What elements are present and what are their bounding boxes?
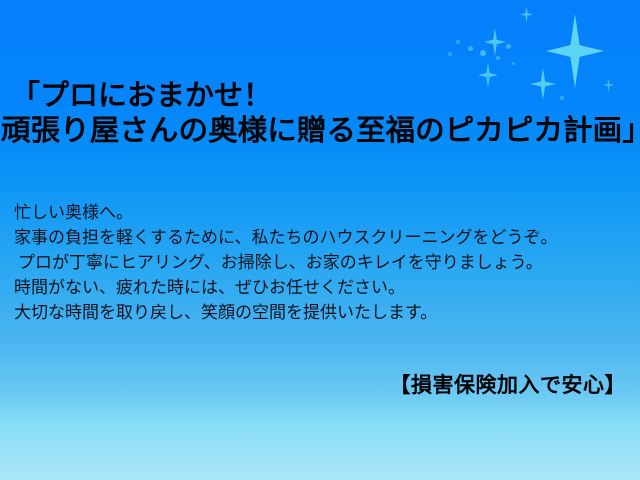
headline-block: 「プロにおまかせ！ 頑張り屋さんの奥様に贈る至福のピカピカ計画」 xyxy=(0,82,640,146)
body-line: プロが丁寧にヒアリング、お掃除し、お家のキレイを守りましょう。 xyxy=(14,250,634,275)
body-copy-block: 忙しい奥様へ。 家事の負担を軽くするために、私たちのハウスクリーニングをどうぞ。… xyxy=(14,200,634,325)
sparkle-dot-icon xyxy=(506,44,511,49)
sparkle-star-tiny-icon xyxy=(520,6,533,23)
body-line: 大切な時間を取り戻し、笑顔の空間を提供いたします。 xyxy=(14,300,634,325)
sparkle-dot-icon xyxy=(480,50,486,56)
sparkle-dot-icon xyxy=(448,52,452,56)
sparkle-dot-icon xyxy=(456,40,460,44)
body-line: 家事の負担を軽くするために、私たちのハウスクリーニングをどうぞ。 xyxy=(14,225,634,250)
insurance-note: 【損害保険加入で安心】 xyxy=(390,369,627,399)
headline-line-1: 「プロにおまかせ！ xyxy=(0,82,640,111)
sparkle-star-icon xyxy=(546,14,604,88)
sparkle-dot-icon xyxy=(496,56,500,60)
sparkle-star-small-icon xyxy=(484,28,506,56)
body-line: 忙しい奥様へ。 xyxy=(14,200,634,225)
promo-slide: 「プロにおまかせ！ 頑張り屋さんの奥様に贈る至福のピカピカ計画」 忙しい奥様へ。… xyxy=(0,0,640,480)
body-line: 時間がない、疲れた時には、ぜひお任せください。 xyxy=(14,275,634,300)
sparkle-dot-icon xyxy=(512,62,515,65)
headline-line-2: 頑張り屋さんの奥様に贈る至福のピカピカ計画」 xyxy=(0,117,640,146)
sparkle-dot-icon xyxy=(468,46,473,51)
